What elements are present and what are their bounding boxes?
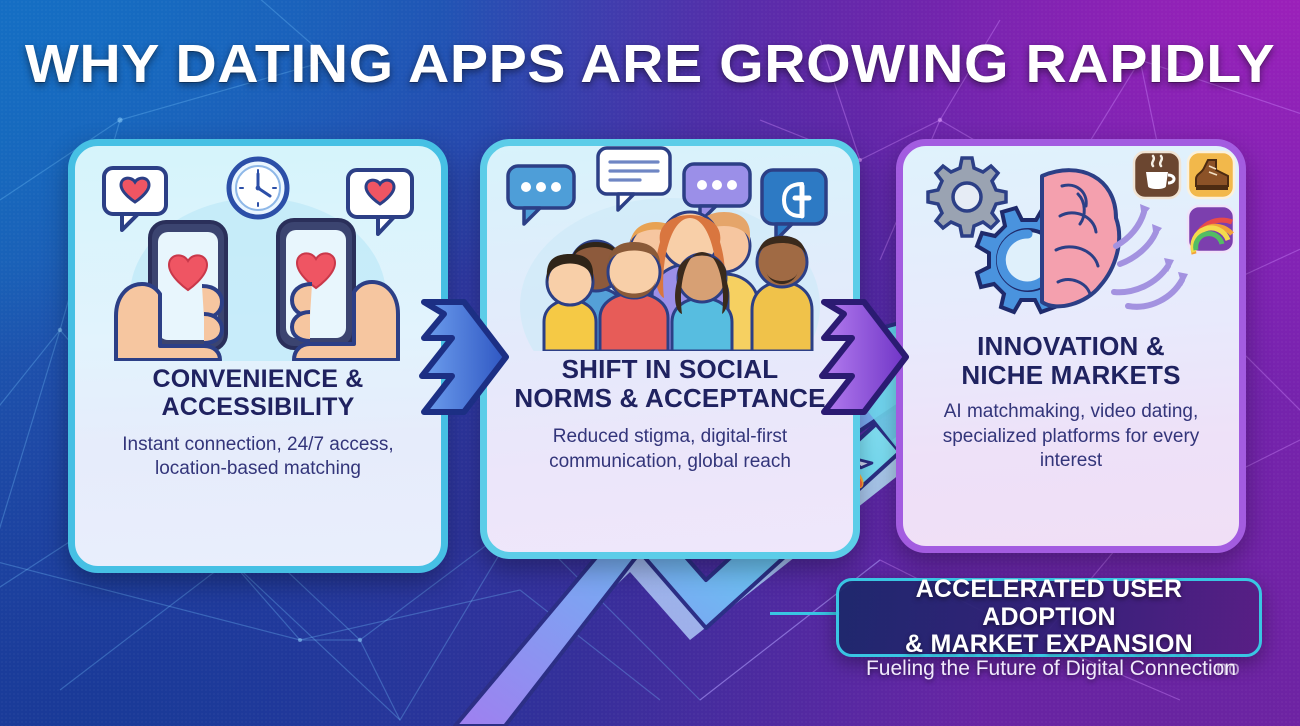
chat-bubble-icon-blue [508,166,574,224]
card-convenience-body: Instant connection, 24/7 access, locatio… [75,421,441,482]
person-front-3 [672,252,732,351]
heart-bubble-icon-left [104,168,166,230]
card-social-norms-body: Reduced stigma, digital-first communicat… [487,413,853,474]
chevron-right-icon-2 [818,292,914,422]
chevron-right-icon-1 [418,292,514,422]
person-back-5 [752,236,812,351]
hiking-boot-icon [1188,152,1234,198]
card-innovation-heading: INNOVATION & NICHE MARKETS [903,330,1239,390]
banner-accelerated-adoption[interactable]: ACCELERATED USER ADOPTION & MARKET EXPAN… [836,578,1262,657]
infographic-canvas: WHY DATING APPS ARE GROWING RAPIDLY [0,0,1300,726]
page-title: WHY DATING APPS ARE GROWING RAPIDLY [0,33,1300,95]
rainbow-icon [1188,206,1234,254]
flow-arrows [1114,212,1182,307]
brain-icon [1042,170,1119,306]
card-social-norms-heading: SHIFT IN SOCIAL NORMS & ACCEPTANCE [487,353,853,413]
illustration-diverse-people-chat [487,146,853,351]
card-innovation-body: AI matchmaking, video dating, specialize… [903,390,1239,473]
banner-caption: Fueling the Future of Digital Connection [836,657,1266,681]
smartphone-icon-right [278,220,354,348]
coffee-cup-icon [1134,152,1180,198]
card-convenience-heading: CONVENIENCE & ACCESSIBILITY [75,363,441,421]
banner-connector-line [770,612,840,615]
card-social-norms[interactable]: SHIFT IN SOCIAL NORMS & ACCEPTANCE Reduc… [480,139,860,559]
watermark-text: no [1216,657,1240,681]
gear-icon-small [928,158,1006,236]
heart-bubble-icon-right [348,170,412,234]
clock-icon [229,159,287,217]
illustration-hands-phones-hearts [75,146,441,361]
illustration-gears-brain-niches [903,146,1239,326]
card-innovation[interactable]: INNOVATION & NICHE MARKETS AI matchmakin… [896,139,1246,553]
banner-heading: ACCELERATED USER ADOPTION & MARKET EXPAN… [839,576,1259,659]
card-convenience[interactable]: CONVENIENCE & ACCESSIBILITY Instant conn… [68,139,448,573]
